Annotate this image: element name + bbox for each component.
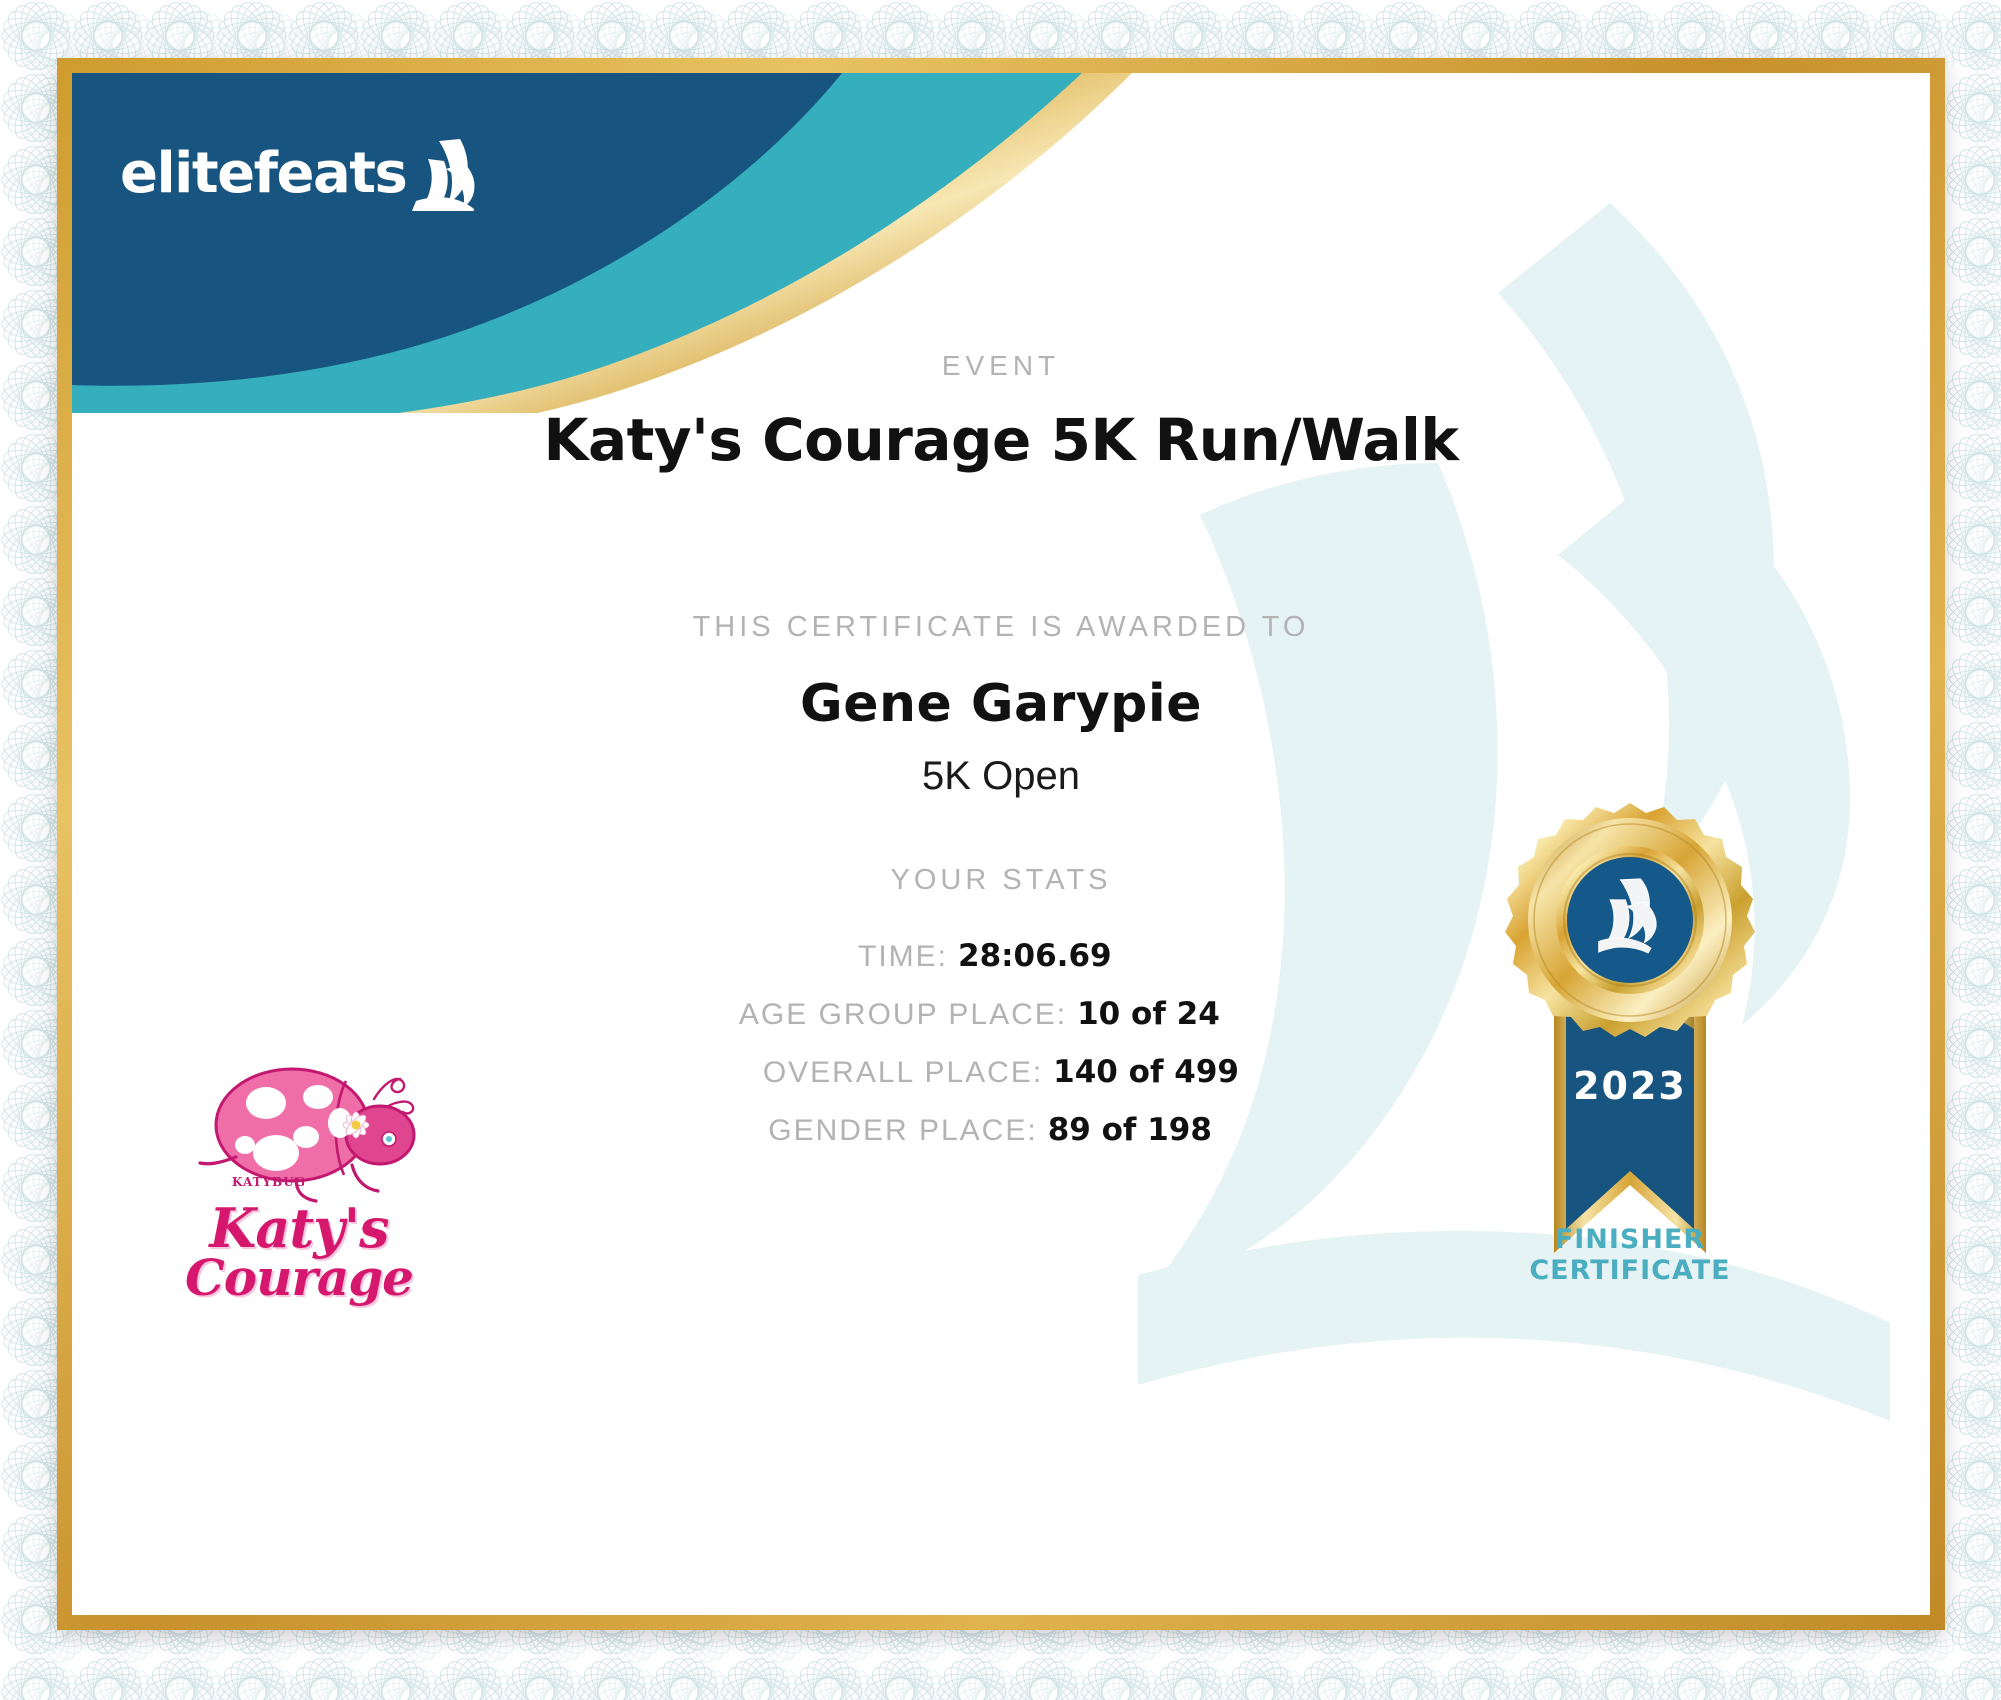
- stat-value-time: 28:06.69: [958, 938, 1144, 974]
- event-logo-katys-courage: KATYBUG Katy's Courage: [184, 1053, 434, 1303]
- recipient-name: Gene Garypie: [72, 674, 1930, 734]
- medal-ribbon: 2023: [1554, 1007, 1706, 1253]
- stat-key-overall-place: OVERALL PLACE:: [763, 1056, 1043, 1090]
- stat-value-overall-place: 140 of 499: [1053, 1054, 1239, 1090]
- event-title: Katy's Courage 5K Run/Walk: [72, 406, 1930, 474]
- stat-key-age-group-place: AGE GROUP PLACE:: [739, 998, 1067, 1032]
- medal-inner-disc: [1567, 857, 1693, 983]
- awarded-to-label: THIS CERTIFICATE IS AWARDED TO: [72, 611, 1930, 644]
- certificate-page: elitefeats EVENT Katy's Courage 5K Run/W…: [0, 0, 2001, 1700]
- event-logo-katybug-text: KATYBUG: [214, 1175, 324, 1189]
- certificate-gold-frame: elitefeats EVENT Katy's Courage 5K Run/W…: [57, 58, 1945, 1630]
- stat-value-age-group-place: 10 of 24: [1077, 996, 1263, 1032]
- event-logo-line2: Courage: [184, 1254, 414, 1302]
- stat-value-gender-place: 89 of 198: [1048, 1112, 1234, 1148]
- medal-year: 2023: [1573, 1064, 1687, 1108]
- stat-key-gender-place: GENDER PLACE:: [768, 1114, 1037, 1148]
- event-label: EVENT: [72, 350, 1930, 382]
- finisher-caption-line2: CERTIFICATE: [1470, 1256, 1790, 1287]
- event-logo-script: Katy's Courage: [184, 1203, 414, 1302]
- stat-key-time: TIME:: [858, 940, 948, 974]
- finisher-certificate-caption: FINISHER CERTIFICATE: [1470, 1225, 1790, 1287]
- certificate-canvas: elitefeats EVENT Katy's Courage 5K Run/W…: [72, 73, 1930, 1615]
- event-logo-line1: Katy's: [184, 1203, 414, 1254]
- finisher-caption-line1: FINISHER: [1470, 1225, 1790, 1256]
